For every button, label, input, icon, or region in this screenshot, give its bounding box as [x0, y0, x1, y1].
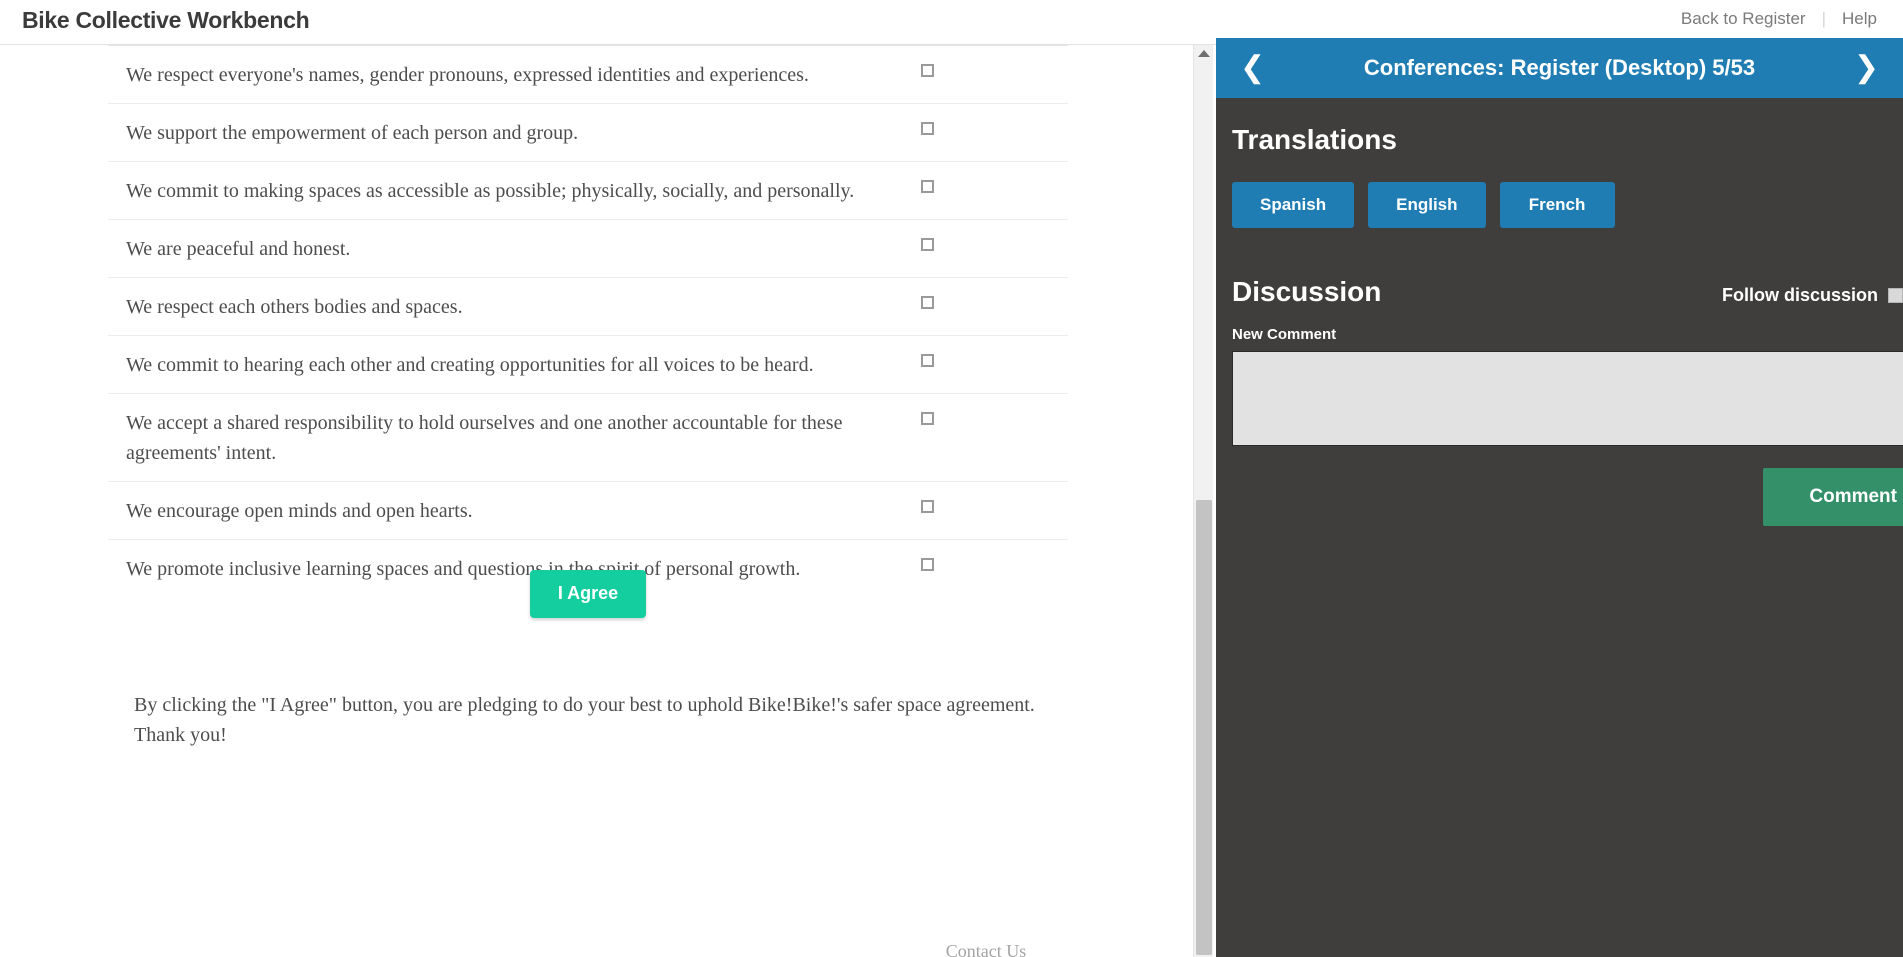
- unchecked-box-icon[interactable]: [921, 238, 934, 251]
- pledge-text: By clicking the "I Agree" button, you ar…: [134, 690, 1064, 750]
- agreement-text: We support the empowerment of each perso…: [126, 118, 886, 148]
- list-item[interactable]: We accept a shared responsibility to hol…: [108, 393, 1068, 481]
- comment-submit-button[interactable]: Comment: [1763, 468, 1903, 526]
- new-comment-label: New Comment: [1216, 308, 1903, 343]
- language-button-group: Spanish English French: [1216, 156, 1903, 228]
- agreement-text: We encourage open minds and open hearts.: [126, 496, 886, 526]
- unchecked-box-icon[interactable]: [921, 180, 934, 193]
- follow-discussion-control[interactable]: Follow discussion: [1722, 285, 1903, 306]
- translations-heading: Translations: [1216, 116, 1903, 156]
- list-item[interactable]: We respect everyone's names, gender pron…: [108, 45, 1068, 103]
- i-agree-button[interactable]: I Agree: [530, 570, 646, 618]
- unchecked-box-icon[interactable]: [921, 500, 934, 513]
- agreement-text: We respect each others bodies and spaces…: [126, 292, 886, 322]
- scrollbar-thumb[interactable]: [1196, 500, 1212, 955]
- safer-space-agreement-list: We respect everyone's names, gender pron…: [108, 45, 1068, 597]
- follow-discussion-checkbox[interactable]: [1888, 288, 1903, 303]
- panel-title: Conferences: Register (Desktop) 5/53: [1289, 55, 1830, 81]
- unchecked-box-icon[interactable]: [921, 122, 934, 135]
- back-to-register-link[interactable]: Back to Register: [1665, 9, 1822, 29]
- new-comment-textarea[interactable]: [1232, 351, 1903, 446]
- list-item[interactable]: We are peaceful and honest.: [108, 219, 1068, 277]
- contact-us-link[interactable]: Contact Us: [946, 941, 1027, 957]
- agree-button-container: I Agree: [108, 570, 1068, 618]
- agreement-text: We commit to making spaces as accessible…: [126, 176, 886, 206]
- unchecked-box-icon[interactable]: [921, 412, 934, 425]
- footer-right-group: Contact Us ©2017 Bike!Bike!: [836, 937, 1136, 957]
- app-title: Bike Collective Workbench: [22, 7, 309, 34]
- language-button-french[interactable]: French: [1500, 182, 1615, 228]
- panel-header: ❮ Conferences: Register (Desktop) 5/53 ❯: [1216, 38, 1903, 98]
- discussion-heading: Discussion: [1232, 276, 1381, 308]
- panel-body: Translations Spanish English French Disc…: [1216, 98, 1903, 526]
- translation-discussion-panel: ❮ Conferences: Register (Desktop) 5/53 ❯…: [1216, 38, 1903, 957]
- list-item[interactable]: We support the empowerment of each perso…: [108, 103, 1068, 161]
- agreement-text: We commit to hearing each other and crea…: [126, 350, 886, 380]
- language-button-english[interactable]: English: [1368, 182, 1485, 228]
- footer: portiz@aivee.name | Sign out Contact Us …: [0, 905, 1193, 957]
- chevron-left-icon[interactable]: ❮: [1216, 53, 1289, 83]
- list-item[interactable]: We respect each others bodies and spaces…: [108, 277, 1068, 335]
- main-content-pane: We respect everyone's names, gender pron…: [0, 45, 1193, 957]
- unchecked-box-icon[interactable]: [921, 64, 934, 77]
- agreement-text: We are peaceful and honest.: [126, 234, 886, 264]
- agreement-text: We accept a shared responsibility to hol…: [126, 408, 886, 468]
- app-root: Bike Collective Workbench Back to Regist…: [0, 0, 1903, 957]
- comment-submit-row: Comment: [1216, 446, 1903, 526]
- chevron-right-icon[interactable]: ❯: [1830, 53, 1903, 83]
- top-navigation: Back to Register | Help: [1665, 9, 1893, 29]
- list-item[interactable]: We commit to making spaces as accessible…: [108, 161, 1068, 219]
- discussion-header: Discussion Follow discussion: [1216, 228, 1903, 308]
- help-link[interactable]: Help: [1826, 9, 1893, 29]
- agreement-text: We respect everyone's names, gender pron…: [126, 60, 886, 90]
- list-item[interactable]: We commit to hearing each other and crea…: [108, 335, 1068, 393]
- scroll-up-arrow-icon[interactable]: [1198, 50, 1210, 57]
- list-item[interactable]: We encourage open minds and open hearts.: [108, 481, 1068, 539]
- unchecked-box-icon[interactable]: [921, 354, 934, 367]
- follow-discussion-label: Follow discussion: [1722, 285, 1878, 306]
- vertical-scrollbar[interactable]: [1193, 45, 1213, 957]
- language-button-spanish[interactable]: Spanish: [1232, 182, 1354, 228]
- unchecked-box-icon[interactable]: [921, 296, 934, 309]
